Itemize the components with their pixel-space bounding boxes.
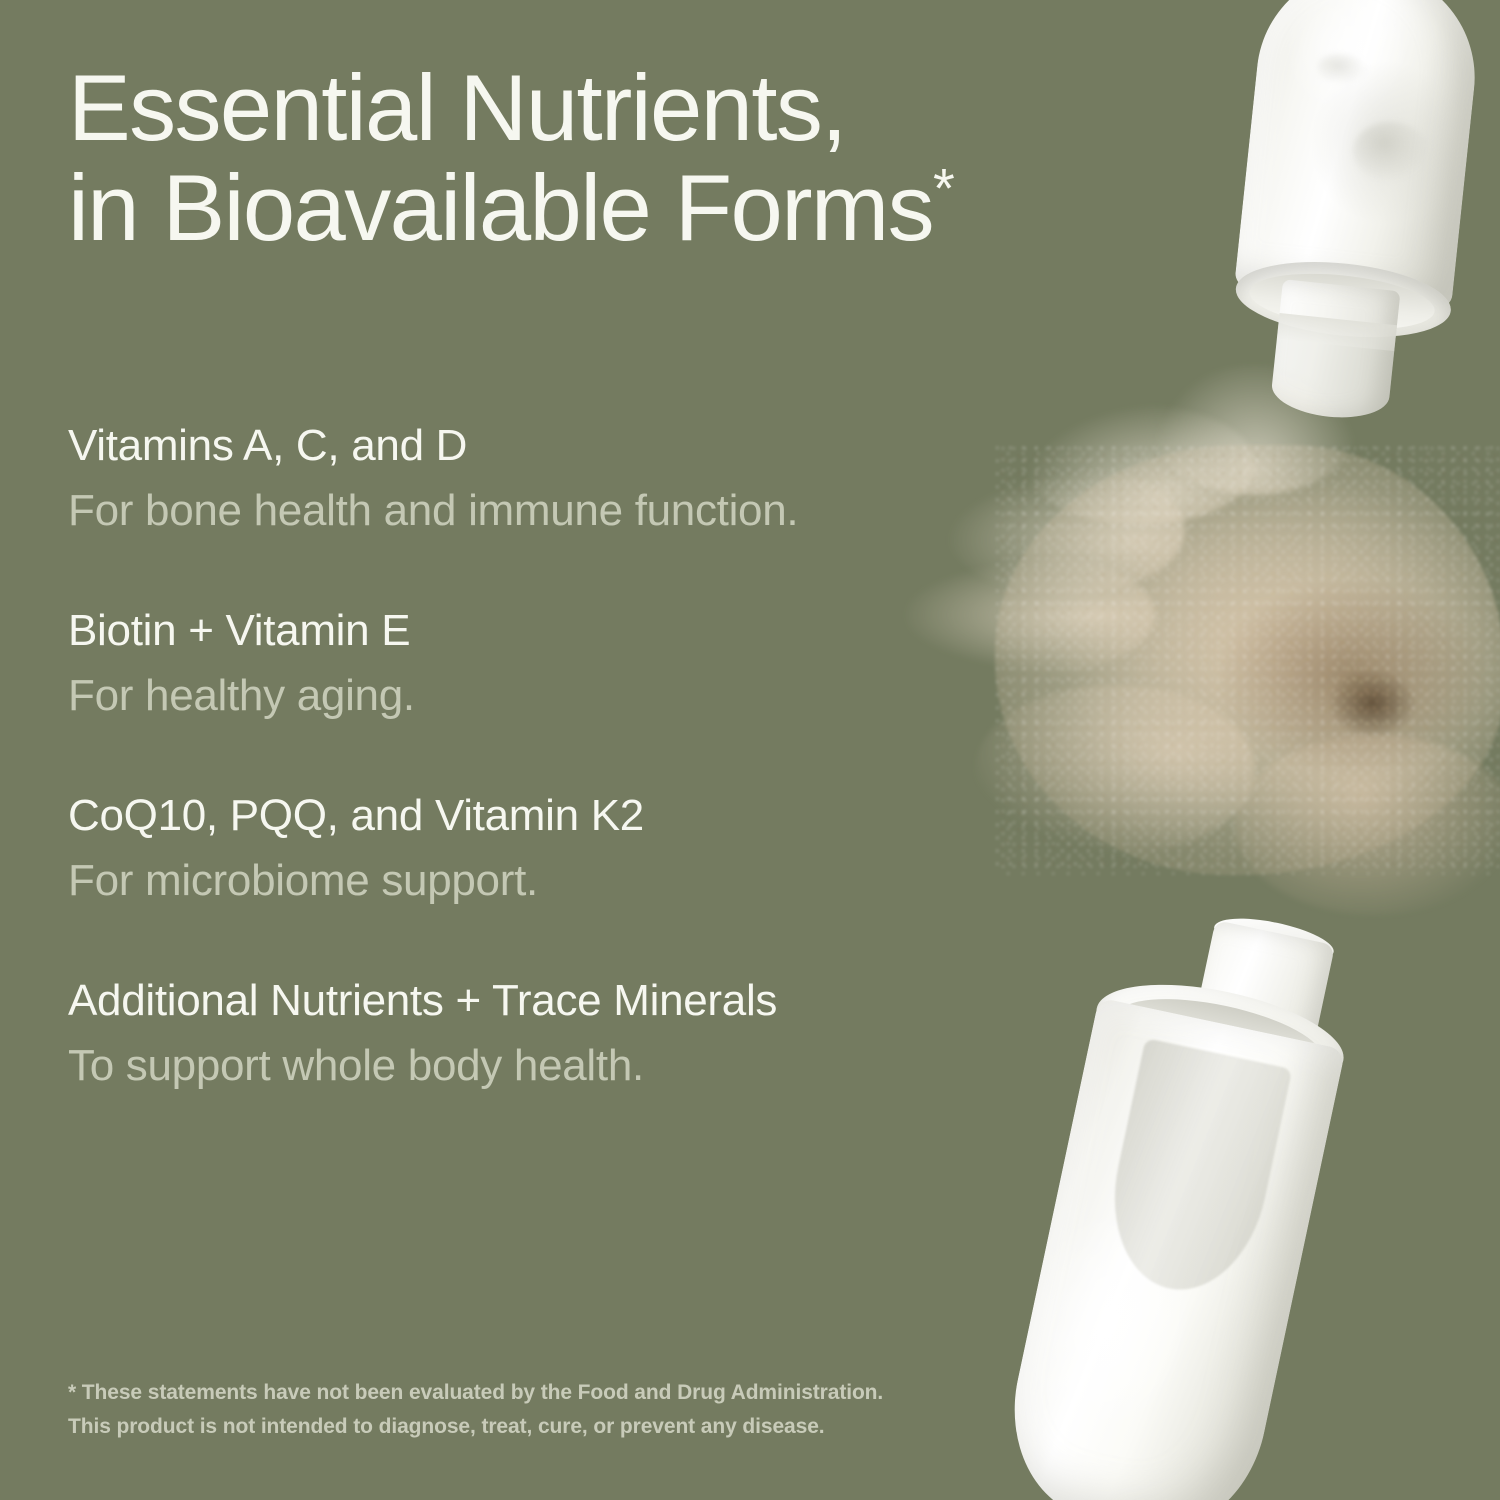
fda-disclaimer: * These statements have not been evaluat… bbox=[68, 1376, 1008, 1444]
nutrient-title: Additional Nutrients + Trace Minerals bbox=[68, 973, 968, 1028]
nutrient-description: For bone health and immune function. bbox=[68, 483, 968, 538]
list-item: Biotin + Vitamin E For healthy aging. bbox=[68, 603, 968, 724]
powder-spray-lower-right bbox=[1235, 735, 1500, 915]
nutrient-benefit-list: Vitamins A, C, and D For bone health and… bbox=[68, 418, 968, 1094]
top-container-body bbox=[1234, 0, 1485, 309]
top-container-dimple bbox=[1350, 118, 1434, 188]
nutrient-title: Vitamins A, C, and D bbox=[68, 418, 968, 473]
powder-grain-texture bbox=[995, 445, 1500, 875]
bottom-container-tube-top bbox=[1211, 910, 1337, 969]
bottom-container-rim-opening bbox=[1111, 984, 1327, 1088]
nutrient-description: To support whole body health. bbox=[68, 1038, 968, 1093]
headline-asterisk: * bbox=[933, 156, 955, 219]
bottom-container-body bbox=[993, 997, 1346, 1500]
top-container-inner-cap bbox=[1269, 279, 1400, 423]
bottom-container-rim bbox=[1088, 966, 1352, 1103]
nutrient-description: For healthy aging. bbox=[68, 668, 968, 723]
powder-spray-lower-left bbox=[975, 685, 1255, 855]
top-container-rim bbox=[1232, 252, 1454, 346]
powder-core bbox=[995, 445, 1500, 875]
powder-spray-top bbox=[1155, 365, 1355, 495]
supplement-container-with-scoop-icon bbox=[981, 887, 1403, 1500]
bottom-container-tube-band bbox=[1177, 1057, 1305, 1125]
nutrient-title: Biotin + Vitamin E bbox=[68, 603, 968, 658]
content-column: Essential Nutrients, in Bioavailable For… bbox=[0, 0, 1000, 1500]
bottom-container-scoop-bowl bbox=[1096, 1038, 1293, 1304]
powder-spray-upper-left bbox=[1025, 405, 1255, 525]
list-item: Additional Nutrients + Trace Minerals To… bbox=[68, 973, 968, 1094]
top-container-cap-band bbox=[1277, 313, 1397, 351]
bottom-container-tube bbox=[1172, 920, 1335, 1151]
supplement-container-pouring-icon bbox=[1231, 0, 1499, 340]
list-item: Vitamins A, C, and D For bone health and… bbox=[68, 418, 968, 539]
headline-text: Essential Nutrients, in Bioavailable For… bbox=[68, 55, 933, 260]
top-container-rim-inner bbox=[1247, 266, 1437, 337]
list-item: CoQ10, PQQ, and Vitamin K2 For microbiom… bbox=[68, 788, 968, 909]
top-container-highlight-upper bbox=[1316, 52, 1369, 87]
nutrient-description: For microbiome support. bbox=[68, 853, 968, 908]
nutrient-title: CoQ10, PQQ, and Vitamin K2 bbox=[68, 788, 968, 843]
page-title: Essential Nutrients, in Bioavailable For… bbox=[68, 58, 1078, 257]
